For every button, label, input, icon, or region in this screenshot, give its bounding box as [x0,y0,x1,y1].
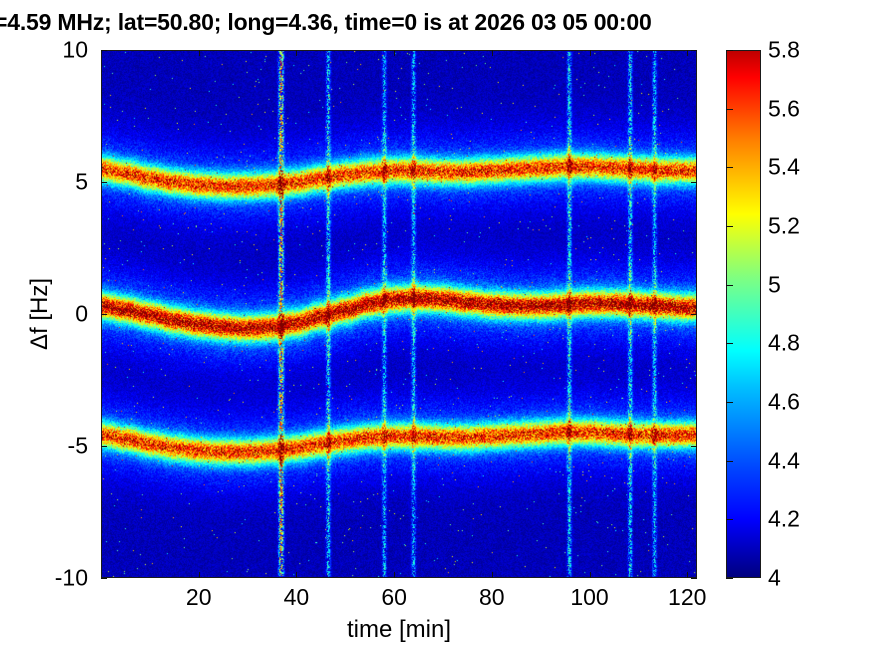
x-tick-label: 120 [668,584,706,611]
tick-mark [492,572,493,578]
x-tick-label: 40 [284,584,310,611]
colorbar-tick [726,343,733,344]
y-tick-label: 5 [0,169,88,196]
x-tick-label: 80 [479,584,505,611]
tick-mark [101,446,107,447]
spectrogram-figure: =4.59 MHz; lat=50.80; long=4.36, time=0 … [0,0,875,656]
tick-mark [691,578,697,579]
colorbar-tick-label: 4.8 [768,330,800,357]
tick-mark [394,50,395,56]
x-tick-label: 60 [381,584,407,611]
colorbar-tick [726,50,733,51]
tick-mark [492,50,493,56]
x-tick-label: 20 [186,584,212,611]
tick-mark [199,50,200,56]
x-tick-label: 100 [570,584,608,611]
spectrogram-axes [101,50,697,578]
y-tick-label: -5 [0,433,88,460]
tick-mark [199,572,200,578]
colorbar-tick [726,461,733,462]
colorbar-tick-label: 5.2 [768,213,800,240]
figure-title: =4.59 MHz; lat=50.80; long=4.36, time=0 … [0,6,875,38]
colorbar-tick [726,226,733,227]
tick-mark [590,572,591,578]
tick-mark [394,572,395,578]
tick-mark [691,446,697,447]
tick-mark [101,50,107,51]
colorbar-tick-label: 4.2 [768,506,800,533]
y-tick-label: -10 [0,565,88,592]
colorbar-tick [726,285,733,286]
tick-mark [296,572,297,578]
y-axis-title: Δf [Hz] [26,214,54,414]
colorbar-tick-label: 5.8 [768,37,800,64]
tick-mark [101,578,107,579]
y-tick-label: 10 [0,37,88,64]
colorbar-tick-label: 4 [768,565,781,592]
colorbar-tick-label: 5.4 [768,154,800,181]
tick-mark [691,50,697,51]
colorbar-tick [726,578,733,579]
colorbar-tick-label: 5.6 [768,95,800,122]
tick-mark [691,314,697,315]
colorbar-tick-label: 4.4 [768,447,800,474]
tick-mark [691,182,697,183]
tick-mark [296,50,297,56]
spectrogram-image [102,51,696,577]
colorbar-tick [726,402,733,403]
tick-mark [101,182,107,183]
tick-mark [687,50,688,56]
colorbar-tick [726,167,733,168]
colorbar-tick [726,519,733,520]
colorbar-tick-label: 4.6 [768,389,800,416]
x-axis-title: time [min] [101,616,697,644]
colorbar-tick-label: 5 [768,271,781,298]
tick-mark [590,50,591,56]
tick-mark [687,572,688,578]
tick-mark [101,314,107,315]
colorbar [726,50,761,578]
colorbar-tick [726,109,733,110]
